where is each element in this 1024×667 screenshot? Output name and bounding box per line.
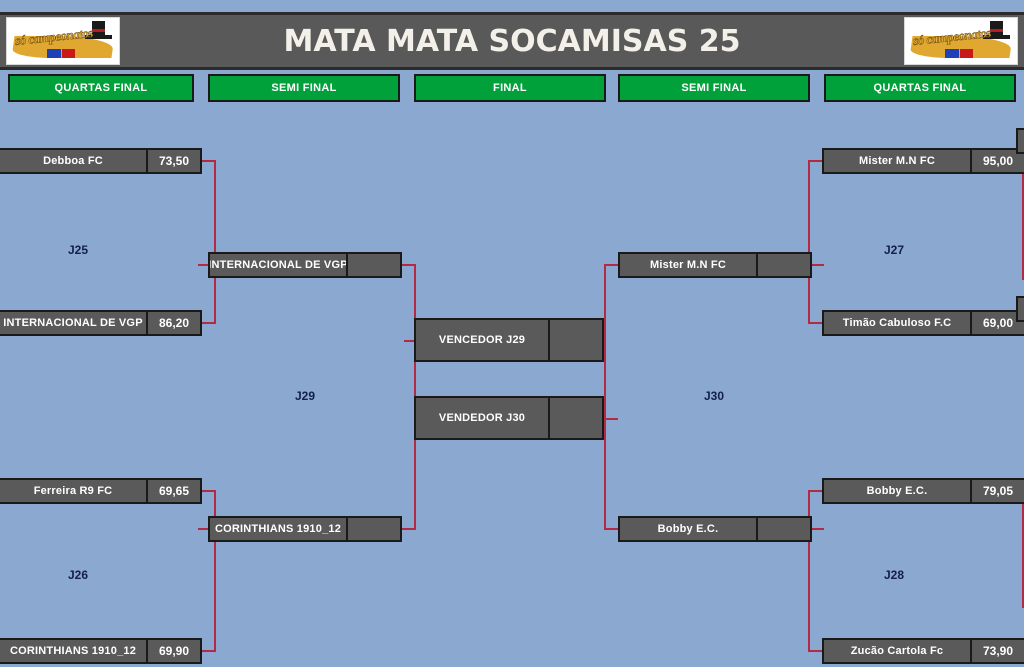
qf-j27-team-1[interactable]: Mister M.N FC 95,00	[822, 148, 1024, 174]
team-name: Debboa FC	[0, 150, 146, 172]
logo-left: só campeonatos	[6, 17, 120, 65]
team-name: Zucão Cartola Fc	[824, 640, 970, 662]
team-score: 69,90	[146, 640, 200, 662]
sf-j29-team-2[interactable]: CORINTHIANS 1910_12	[208, 516, 402, 542]
sf-j30-team-2[interactable]: Bobby E.C.	[618, 516, 812, 542]
team-score: 79,05	[970, 480, 1024, 502]
round-header-final[interactable]: FINAL	[414, 74, 606, 102]
team-score	[346, 518, 400, 540]
team-score	[756, 518, 810, 540]
logo-right: só campeonatos	[904, 17, 1018, 65]
top-hat-icon-right	[990, 21, 1003, 36]
connector-j26-spine	[214, 490, 216, 652]
qf-j25-team-2[interactable]: INTERNACIONAL DE VGP 86,20	[0, 310, 202, 336]
team-name: VENDEDOR J30	[416, 398, 548, 438]
connector-sf-right-spine	[604, 264, 606, 530]
bracket-page: só campeonatos MATA MATA SOCAMISAS 25 só…	[0, 0, 1024, 667]
team-name: Mister M.N FC	[620, 254, 756, 276]
team-score	[346, 254, 400, 276]
final-slot-2[interactable]: VENDEDOR J30	[414, 396, 604, 440]
team-score: 69,65	[146, 480, 200, 502]
logo-flag-red-right	[960, 49, 973, 58]
qf-j25-team-1[interactable]: Debboa FC 73,50	[0, 148, 202, 174]
match-id-j29: J29	[275, 389, 335, 403]
logo-flag-blue-left	[47, 49, 61, 58]
top-hat-icon-left	[92, 21, 105, 36]
team-name: CORINTHIANS 1910_12	[0, 640, 146, 662]
team-name: Bobby E.C.	[620, 518, 756, 540]
team-name: Mister M.N FC	[824, 150, 970, 172]
qf-j26-team-1[interactable]: Ferreira R9 FC 69,65	[0, 478, 202, 504]
logo-flag-red-left	[62, 49, 75, 58]
team-name: Bobby E.C.	[824, 480, 970, 502]
offscreen-box-bottom[interactable]	[1016, 296, 1024, 322]
qf-j27-team-2[interactable]: Timão Cabuloso F.C 69,00	[822, 310, 1024, 336]
title-bar: só campeonatos MATA MATA SOCAMISAS 25 só…	[0, 12, 1024, 70]
match-id-j25: J25	[48, 243, 108, 257]
final-slot-1[interactable]: VENCEDOR J29	[414, 318, 604, 362]
page-title: MATA MATA SOCAMISAS 25	[126, 24, 898, 59]
connector-j27-spine	[808, 160, 810, 324]
match-id-j27: J27	[864, 243, 924, 257]
round-header-semi-left[interactable]: SEMI FINAL	[208, 74, 400, 102]
connector-final-in-bottom	[602, 418, 618, 420]
qf-j28-team-2[interactable]: Zucão Cartola Fc 73,90	[822, 638, 1024, 664]
team-score: 73,50	[146, 150, 200, 172]
team-score	[548, 398, 602, 438]
team-name: INTERNACIONAL DE VGP	[0, 312, 146, 334]
team-name: Ferreira R9 FC	[0, 480, 146, 502]
sf-j29-team-1[interactable]: INTERNACIONAL DE VGP	[208, 252, 402, 278]
team-name: INTERNACIONAL DE VGP	[210, 254, 346, 276]
team-name: CORINTHIANS 1910_12	[210, 518, 346, 540]
team-name: Timão Cabuloso F.C	[824, 312, 970, 334]
round-header-quarters-right[interactable]: QUARTAS FINAL	[824, 74, 1016, 102]
qf-j26-team-2[interactable]: CORINTHIANS 1910_12 69,90	[0, 638, 202, 664]
connector-j25-spine	[214, 160, 216, 324]
match-id-j30: J30	[684, 389, 744, 403]
round-header-semi-right[interactable]: SEMI FINAL	[618, 74, 810, 102]
qf-j28-team-1[interactable]: Bobby E.C. 79,05	[822, 478, 1024, 504]
team-score	[548, 320, 602, 360]
team-score: 73,90	[970, 640, 1024, 662]
team-score	[756, 254, 810, 276]
sf-j30-team-1[interactable]: Mister M.N FC	[618, 252, 812, 278]
match-id-j26: J26	[48, 568, 108, 582]
offscreen-box-top[interactable]	[1016, 128, 1024, 154]
match-id-j28: J28	[864, 568, 924, 582]
round-header-quarters-left[interactable]: QUARTAS FINAL	[8, 74, 194, 102]
team-name: VENCEDOR J29	[416, 320, 548, 360]
logo-flag-blue-right	[945, 49, 959, 58]
team-score: 86,20	[146, 312, 200, 334]
connector-j28-spine	[808, 490, 810, 652]
